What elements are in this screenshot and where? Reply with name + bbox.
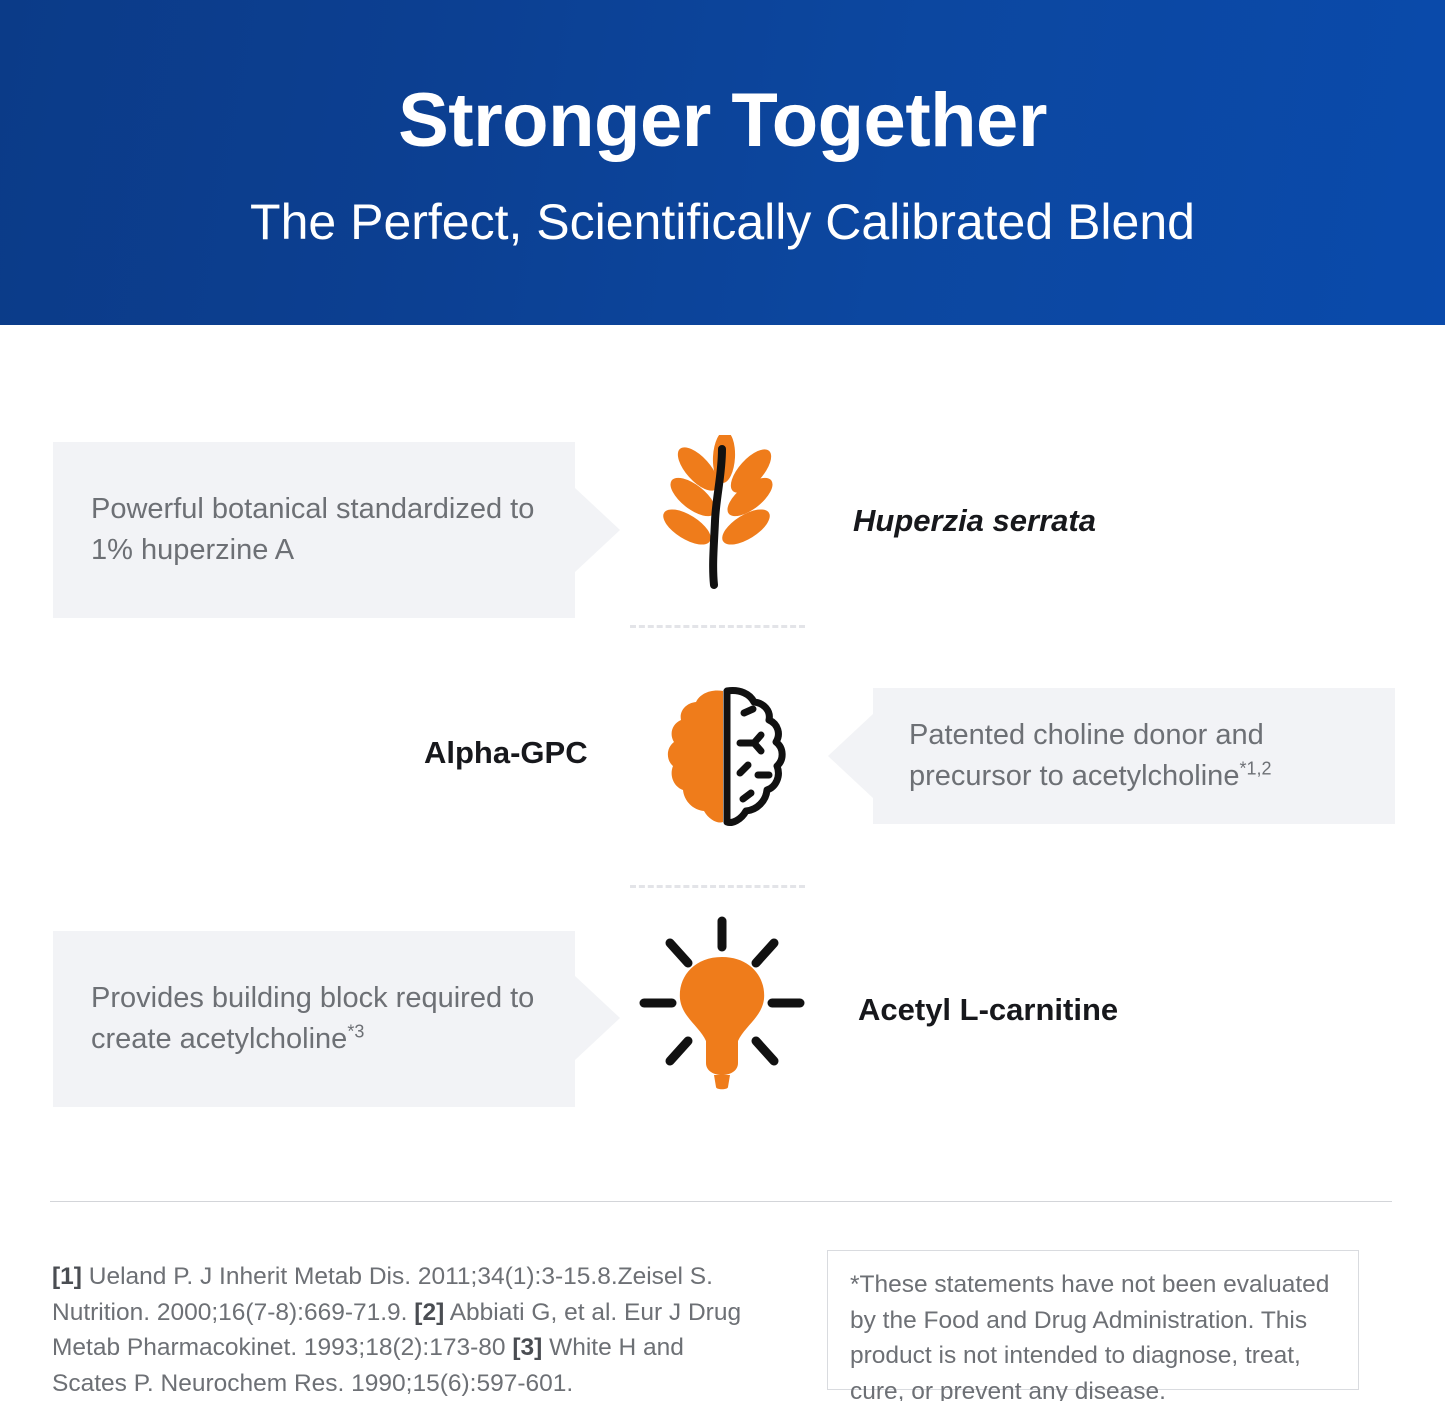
- ingredient-label-alpha-gpc: Alpha-GPC: [424, 735, 588, 771]
- citations-text: [1] Ueland P. J Inherit Metab Dis. 2011;…: [52, 1259, 742, 1401]
- ingredient-label-huperzia: Huperzia serrata: [853, 503, 1096, 539]
- fda-disclaimer-box: *These statements have not been evaluate…: [827, 1250, 1359, 1390]
- footer-divider: [50, 1201, 1392, 1202]
- callout-acetyl-l-carnitine: Provides building block required to crea…: [53, 931, 575, 1107]
- brain-icon: [660, 687, 790, 827]
- callout-alpha-gpc-superscript: *1,2: [1239, 758, 1271, 778]
- callout-alpha-gpc-text: Patented choline donor and precursor to …: [909, 715, 1359, 797]
- ingredients-section: Powerful botanical standardized to 1% hu…: [0, 325, 1445, 1205]
- page-subtitle: The Perfect, Scientifically Calibrated B…: [250, 195, 1195, 250]
- callout-huperzia-text: Powerful botanical standardized to 1% hu…: [91, 489, 537, 571]
- callout-acetyl-l-carnitine-text: Provides building block required to crea…: [91, 978, 537, 1060]
- plant-leaf-icon: [658, 435, 788, 595]
- callout-acetyl-superscript: *3: [347, 1021, 364, 1041]
- page-title: Stronger Together: [398, 83, 1047, 159]
- callout-arrow-right-icon: [575, 976, 620, 1060]
- infographic-page: Stronger Together The Perfect, Scientifi…: [0, 0, 1445, 1401]
- callout-arrow-right-icon: [575, 488, 620, 572]
- callout-alpha-gpc: Patented choline donor and precursor to …: [873, 688, 1395, 824]
- lightbulb-icon: [634, 915, 810, 1090]
- callout-huperzia: Powerful botanical standardized to 1% hu…: [53, 442, 575, 618]
- header-banner: Stronger Together The Perfect, Scientifi…: [0, 0, 1445, 325]
- section-divider: [630, 885, 805, 888]
- fda-disclaimer-text: *These statements have not been evaluate…: [850, 1271, 1329, 1401]
- ingredient-label-acetyl-l-carnitine: Acetyl L-carnitine: [858, 992, 1118, 1028]
- section-divider: [630, 625, 805, 628]
- callout-arrow-left-icon: [828, 714, 873, 798]
